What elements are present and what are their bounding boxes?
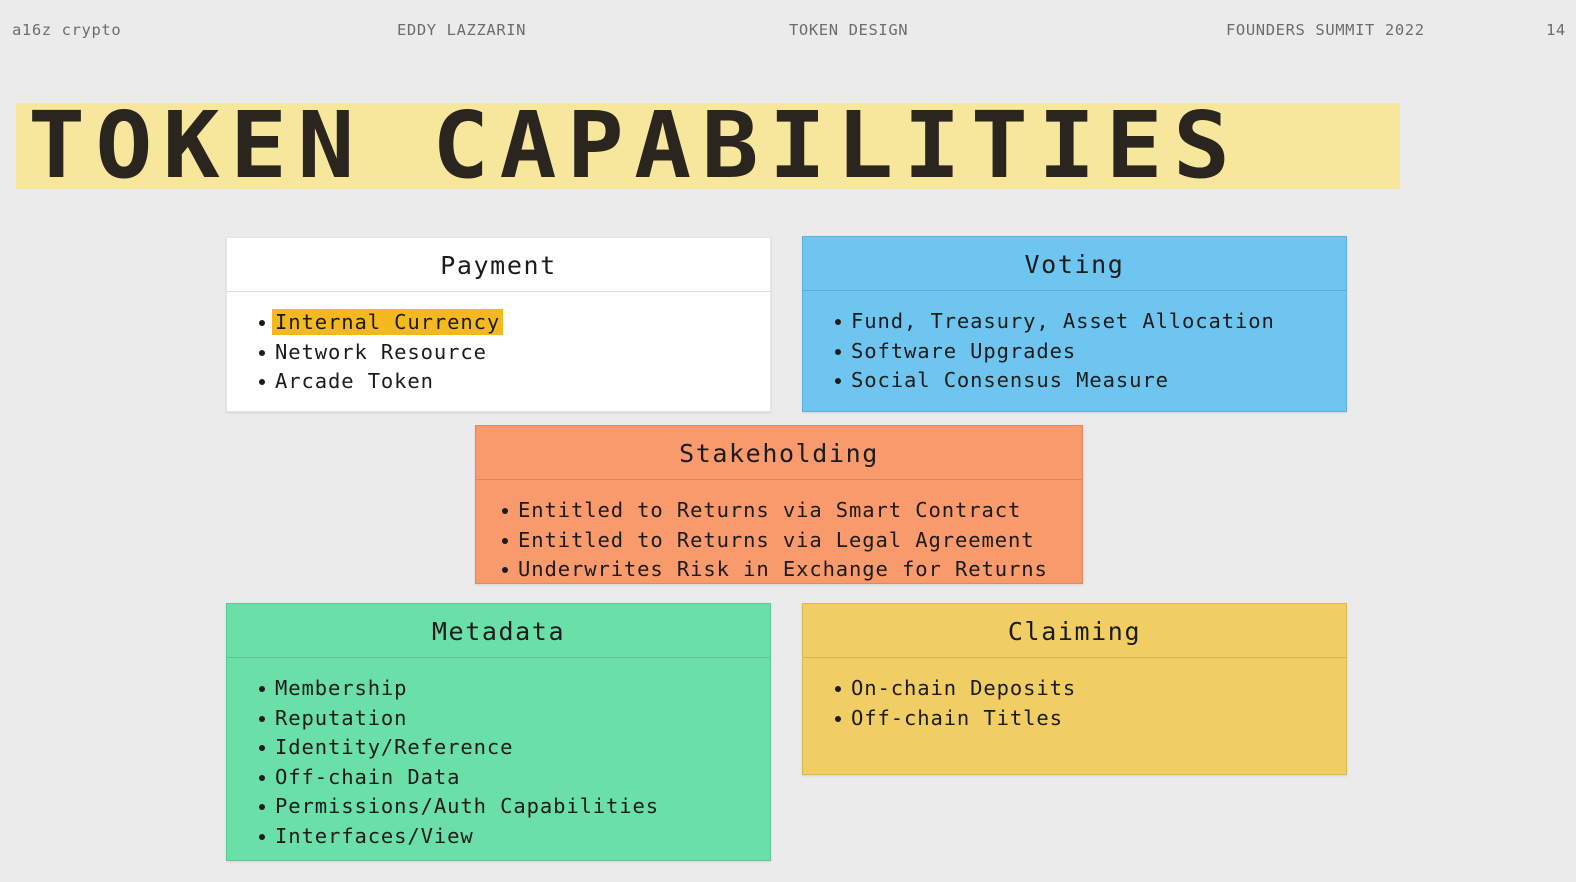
- list-item: Entitled to Returns via Legal Agreement: [518, 526, 1082, 556]
- list-item: Network Resource: [275, 338, 770, 368]
- card-stakeholding-title: Stakeholding: [476, 426, 1082, 480]
- list-item: Social Consensus Measure: [851, 366, 1346, 396]
- list-item: Permissions/Auth Capabilities: [275, 792, 770, 822]
- card-claiming: Claiming On-chain Deposits Off-chain Tit…: [802, 603, 1347, 775]
- card-voting-title: Voting: [803, 237, 1346, 291]
- card-metadata-body: Membership Reputation Identity/Reference…: [227, 658, 770, 865]
- list-item: Arcade Token: [275, 367, 770, 397]
- list-item: Identity/Reference: [275, 733, 770, 763]
- card-payment-list: Internal Currency Network Resource Arcad…: [253, 308, 770, 397]
- card-stakeholding-body: Entitled to Returns via Smart Contract E…: [476, 480, 1082, 599]
- card-metadata-list: Membership Reputation Identity/Reference…: [253, 674, 770, 851]
- header-topic: TOKEN DESIGN: [789, 21, 908, 39]
- card-metadata-title: Metadata: [227, 604, 770, 658]
- list-item: Membership: [275, 674, 770, 704]
- list-item: On-chain Deposits: [851, 674, 1346, 704]
- list-item: Fund, Treasury, Asset Allocation: [851, 307, 1346, 337]
- page-title: TOKEN CAPABILITIES: [28, 97, 1240, 195]
- header-brand: a16z crypto: [12, 21, 121, 39]
- slide-header: a16z crypto EDDY LAZZARIN TOKEN DESIGN F…: [0, 0, 1576, 62]
- list-item: Interfaces/View: [275, 822, 770, 852]
- card-payment-title: Payment: [227, 238, 770, 292]
- card-payment-body: Internal Currency Network Resource Arcad…: [227, 292, 770, 411]
- list-item: Off-chain Titles: [851, 704, 1346, 734]
- card-voting-body: Fund, Treasury, Asset Allocation Softwar…: [803, 291, 1346, 410]
- list-item: Software Upgrades: [851, 337, 1346, 367]
- header-speaker: EDDY LAZZARIN: [397, 21, 526, 39]
- card-metadata: Metadata Membership Reputation Identity/…: [226, 603, 771, 861]
- card-payment: Payment Internal Currency Network Resour…: [226, 237, 771, 412]
- card-claiming-title: Claiming: [803, 604, 1346, 658]
- list-item: Underwrites Risk in Exchange for Returns: [518, 555, 1082, 585]
- card-voting: Voting Fund, Treasury, Asset Allocation …: [802, 236, 1347, 412]
- header-event: FOUNDERS SUMMIT 2022: [1226, 21, 1425, 39]
- list-item: Reputation: [275, 704, 770, 734]
- list-item: Internal Currency: [275, 308, 770, 338]
- card-voting-list: Fund, Treasury, Asset Allocation Softwar…: [829, 307, 1346, 396]
- card-stakeholding: Stakeholding Entitled to Returns via Sma…: [475, 425, 1083, 584]
- card-claiming-list: On-chain Deposits Off-chain Titles: [829, 674, 1346, 733]
- list-item: Off-chain Data: [275, 763, 770, 793]
- header-page-number: 14: [1546, 21, 1566, 39]
- list-item: Entitled to Returns via Smart Contract: [518, 496, 1082, 526]
- card-stakeholding-list: Entitled to Returns via Smart Contract E…: [496, 496, 1082, 585]
- card-claiming-body: On-chain Deposits Off-chain Titles: [803, 658, 1346, 747]
- list-item-text-highlighted: Internal Currency: [272, 309, 503, 335]
